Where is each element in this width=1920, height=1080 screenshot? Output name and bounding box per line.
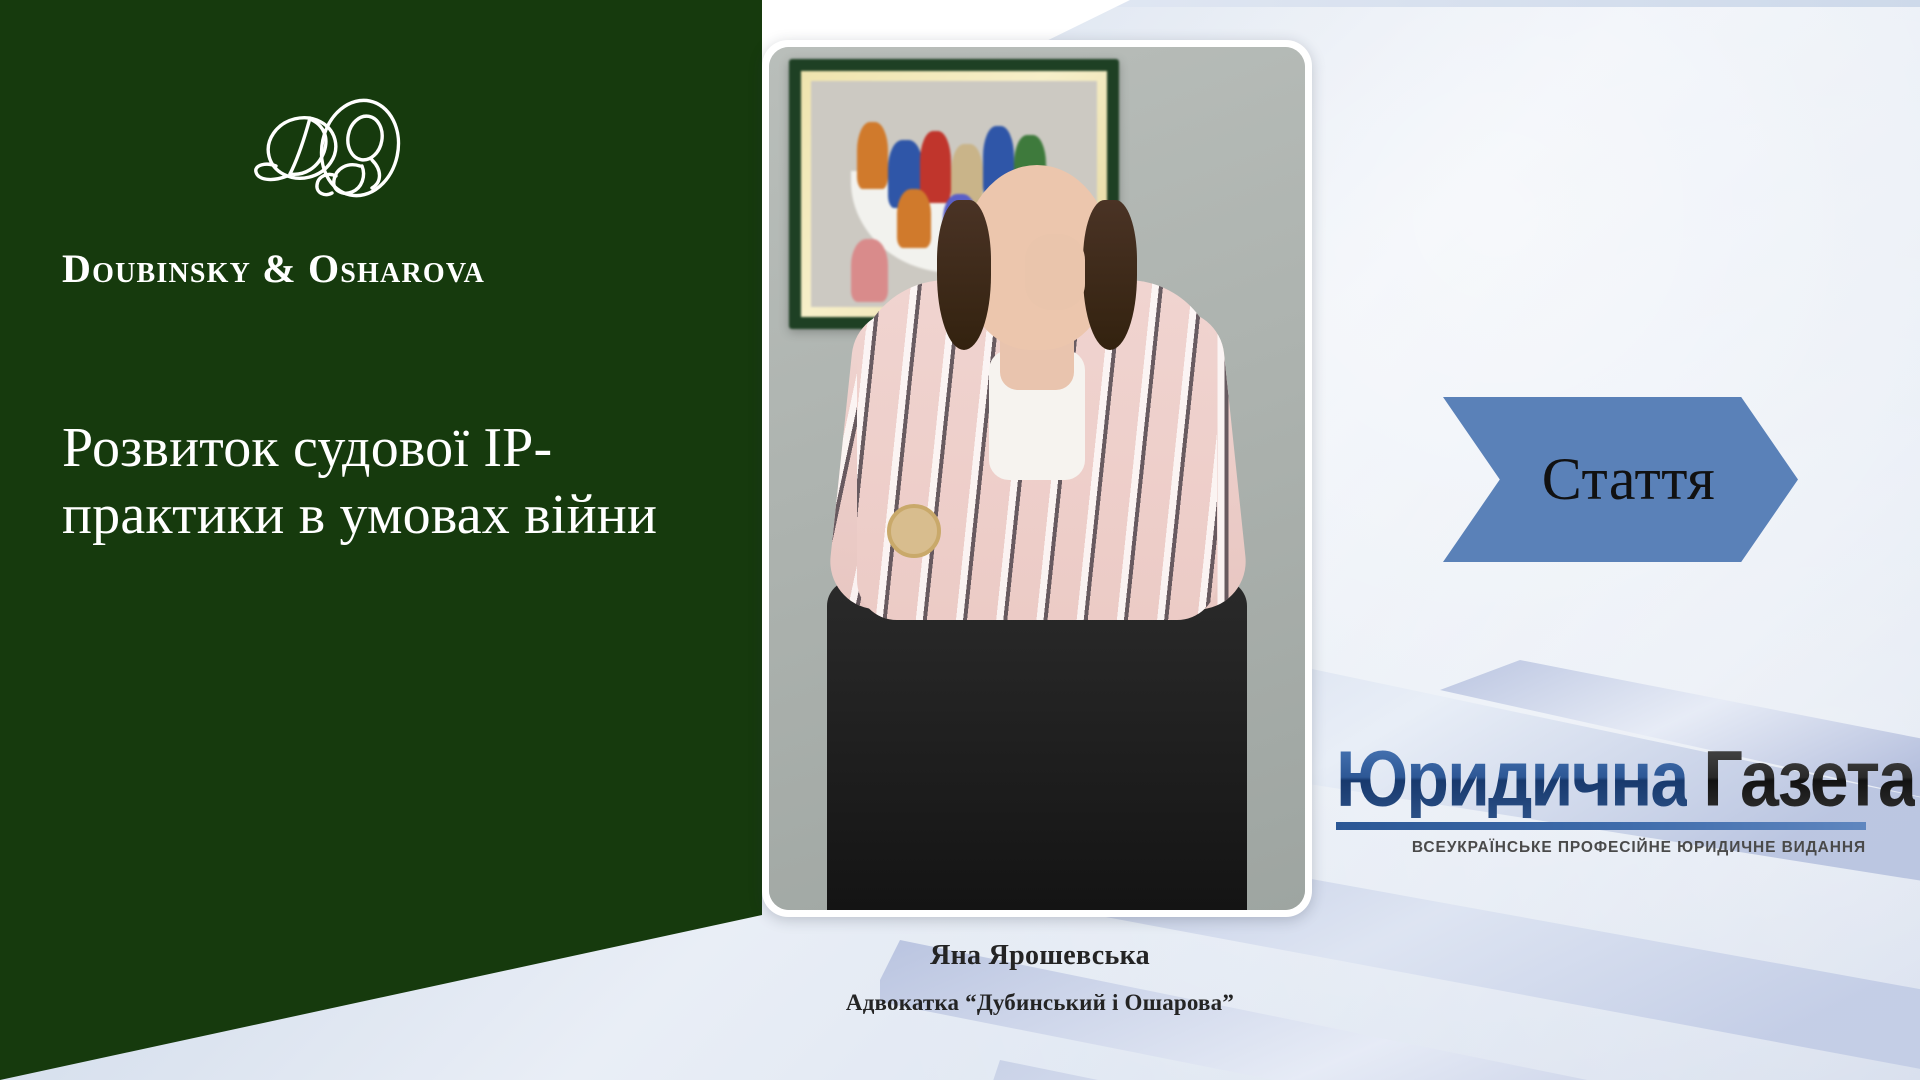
- speaker-role: Адвокатка “Дубинський і Ошарова”: [700, 990, 1380, 1016]
- firm-wordmark: Doubinsky & Osharova: [62, 245, 602, 292]
- speaker-photo-card: [762, 40, 1312, 917]
- speaker-caption: Яна Ярошевська Адвокатка “Дубинський і О…: [700, 940, 1380, 1016]
- headline: Розвиток судової IP-практики в умовах ві…: [62, 415, 682, 549]
- article-badge-label: Стаття: [1542, 445, 1716, 514]
- publisher-word-two: Газета: [1703, 740, 1915, 818]
- speaker-photo: [769, 47, 1305, 910]
- publisher-wordmark: Юридична Газета: [1336, 748, 1881, 818]
- publisher-word-one: Юридична: [1336, 740, 1687, 818]
- publisher-logo: Юридична Газета ВСЕУКРАЇНСЬКЕ ПРОФЕСІЙНЕ…: [1336, 748, 1881, 857]
- publisher-underline: [1336, 822, 1866, 830]
- publisher-tagline: ВСЕУКРАЇНСЬКЕ ПРОФЕСІЙНЕ ЮРИДИЧНЕ ВИДАНН…: [1336, 839, 1866, 857]
- presentation-slide: Doubinsky & Osharova Розвиток судової IP…: [0, 0, 1920, 1080]
- photo-hair-right: [1083, 200, 1137, 350]
- firm-logo-block: Doubinsky & Osharova: [62, 96, 602, 292]
- top-hairline: [1115, 0, 1920, 7]
- monogram-icon: [232, 96, 432, 226]
- photo-skirt: [827, 580, 1247, 910]
- photo-wristwatch: [887, 504, 941, 558]
- photo-hand: [1025, 234, 1085, 310]
- photo-hair-left: [937, 200, 991, 350]
- speaker-name: Яна Ярошевська: [700, 940, 1380, 972]
